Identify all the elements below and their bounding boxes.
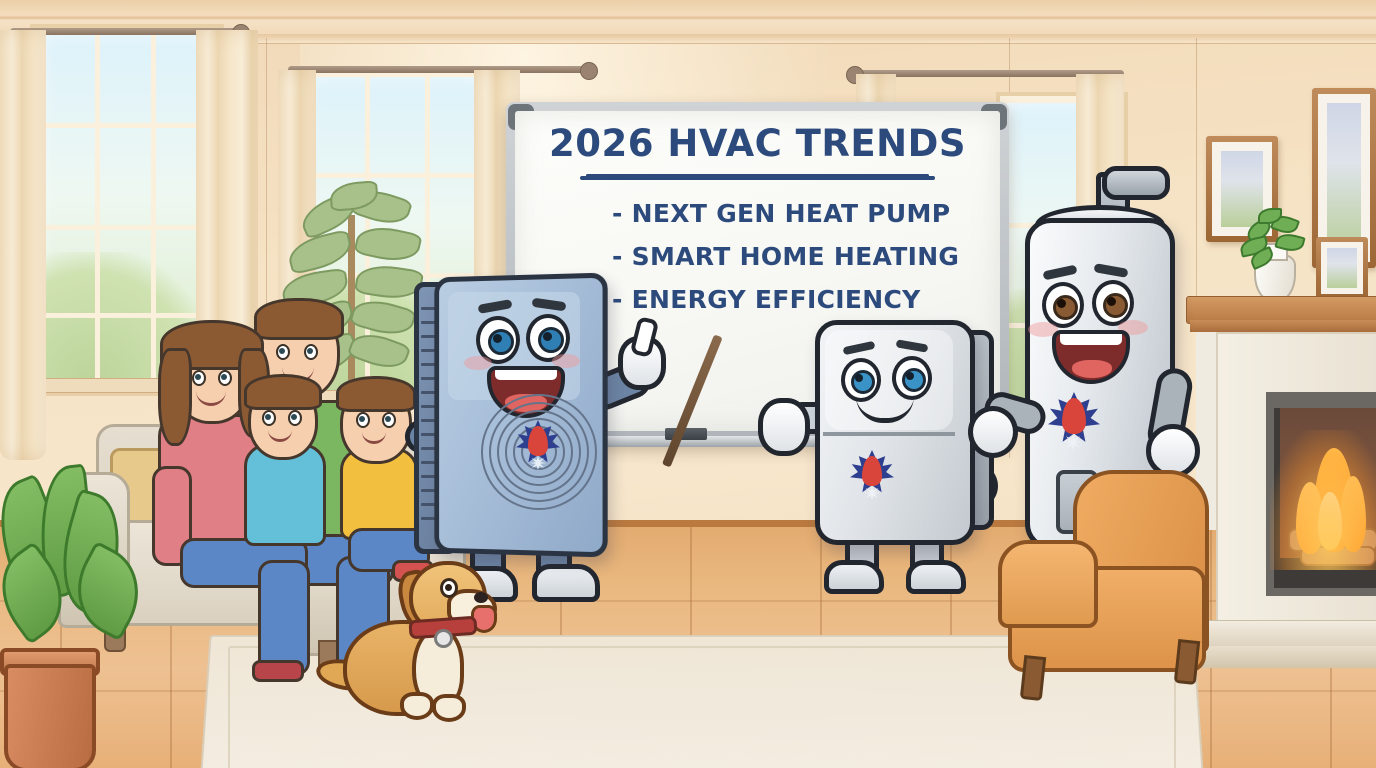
mother-shin <box>258 560 310 676</box>
wall-seam <box>1196 38 1197 338</box>
child-blue-eye <box>262 410 276 426</box>
whiteboard-title-underline <box>580 176 935 180</box>
whiteboard-bullet: - ENERGY EFFICIENCY <box>612 278 1002 321</box>
heat-pump-shoe <box>532 564 600 602</box>
whiteboard-title: 2026 HVAC TRENDS <box>515 122 1000 165</box>
mother-eye <box>218 370 232 386</box>
dog-paw <box>432 694 466 722</box>
illustration-canvas: 2026 HVAC TRENDS - NEXT GEN HEAT PUMP - … <box>0 0 1376 768</box>
mother-shoe <box>252 660 304 682</box>
mother-hair-side <box>158 348 192 446</box>
father-hair <box>254 298 344 340</box>
water-heater-hand-left <box>968 406 1018 458</box>
furnace-foot <box>906 560 966 594</box>
furnace-foot <box>824 560 884 594</box>
fireplace-mantel-lip <box>1190 320 1376 332</box>
dog-eye <box>440 578 458 598</box>
whiteboard-bullet: - NEXT GEN HEAT PUMP <box>612 192 1002 235</box>
child-blue-eye <box>288 410 302 426</box>
fireplace-hearth <box>1196 620 1376 648</box>
fireplace-hearth-step <box>1186 646 1376 668</box>
mother-eye <box>192 370 206 386</box>
child-yellow-eye <box>382 412 396 428</box>
water-heater-eye <box>1042 282 1084 328</box>
child-yellow-eye <box>356 412 370 428</box>
furnace-panel-seam <box>823 432 955 436</box>
child-yellow-hair <box>336 376 416 412</box>
furnace-eye <box>892 356 932 400</box>
father-eye <box>276 344 290 360</box>
curtain-left-a <box>0 30 46 460</box>
curtain-rod-knob <box>580 62 598 80</box>
child-blue-hair <box>244 374 322 410</box>
father-eye <box>304 344 318 360</box>
dog-paw <box>400 692 434 720</box>
heat-pump-blush <box>464 356 492 370</box>
whiteboard-bullet-list: - NEXT GEN HEAT PUMP - SMART HOME HEATIN… <box>612 192 1002 321</box>
water-heater-eye <box>1092 280 1134 326</box>
dog-nose <box>474 592 488 603</box>
dog-tag <box>434 629 453 648</box>
whiteboard-bullet: - SMART HOME HEATING <box>612 235 1002 278</box>
water-heater-flue-elbow <box>1102 166 1170 200</box>
standing-photo-frame <box>1316 237 1368 299</box>
fireplace-glow <box>1270 430 1376 570</box>
furnace-hand-holding-pointer <box>758 398 810 456</box>
curtain-rod-center <box>288 66 588 73</box>
